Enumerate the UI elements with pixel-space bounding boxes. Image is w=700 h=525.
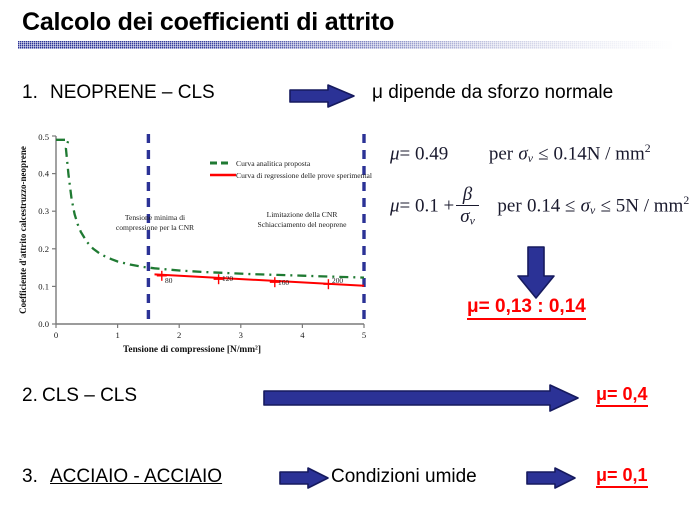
x-tick-0: 0 bbox=[54, 330, 58, 340]
y-axis-tick-labels: 0.0 0.1 0.2 0.3 0.4 0.5 bbox=[38, 132, 49, 329]
formula-1-sub: v bbox=[528, 152, 533, 165]
annotation-tensione-minima: Tensione minima di compressione per la C… bbox=[116, 213, 195, 232]
formula-2-cond-pre: 0.14 ≤ bbox=[527, 196, 575, 217]
y-tick-1: 0.1 bbox=[38, 281, 49, 291]
y-axis-label: Coefficiente d'attrito calcestruzzo-neop… bbox=[18, 146, 28, 314]
formula-result-badge: μ= 0,13 : 0,14 bbox=[467, 297, 586, 320]
right-arrow-icon bbox=[288, 83, 356, 109]
x-axis-label: Tensione di compressione [N/mm²] bbox=[123, 345, 261, 355]
long-right-arrow-icon bbox=[262, 383, 580, 413]
series-curva-analitica bbox=[56, 140, 364, 278]
row-2-label: CLS – CLS bbox=[42, 385, 137, 407]
x-tick-4: 4 bbox=[300, 330, 305, 340]
x-axis-tick-labels: 0 1 2 3 4 5 bbox=[54, 330, 366, 340]
formula-2-numerator: β bbox=[456, 185, 479, 206]
row-3-result: μ= 0,1 bbox=[596, 466, 648, 488]
chart-svg: 0.0 0.1 0.2 0.3 0.4 0.5 0 1 2 3 bbox=[12, 128, 372, 356]
svg-text:Schiacciamento del neoprene: Schiacciamento del neoprene bbox=[258, 220, 348, 229]
row-2-number: 2. bbox=[22, 385, 38, 407]
down-arrow-icon bbox=[515, 245, 557, 301]
formula-2-fraction: βσv bbox=[456, 185, 479, 228]
formula-1-sigma: σ bbox=[518, 143, 527, 164]
row-1-consequence: μ dipende da sforzo normale bbox=[372, 82, 613, 104]
x-tick-5: 5 bbox=[362, 330, 366, 340]
row-1-label: NEOPRENE – CLS bbox=[50, 82, 215, 104]
title-underline-rule bbox=[18, 41, 674, 49]
formula-1-mu: μ bbox=[390, 143, 400, 164]
marker-label-80: 80 bbox=[165, 276, 173, 285]
marker-label-120: 120 bbox=[222, 274, 233, 283]
formula-1-per: per bbox=[489, 143, 513, 164]
svg-text:Tensione minima di: Tensione minima di bbox=[125, 213, 185, 222]
y-tick-0: 0.0 bbox=[38, 319, 49, 329]
formula-2-sub: v bbox=[590, 204, 595, 217]
formula-2-sigma: σ bbox=[581, 196, 590, 217]
row-3-number: 3. bbox=[22, 466, 38, 488]
formula-2-cond-post: ≤ 5N / mm bbox=[601, 196, 684, 217]
row-3-middle: Condizioni umide bbox=[331, 466, 477, 488]
row-2-result: μ= 0,4 bbox=[596, 385, 648, 407]
row-3-label: ACCIAIO - ACCIAIO bbox=[50, 466, 222, 488]
svg-text:Limitazione della CNR: Limitazione della CNR bbox=[267, 210, 339, 219]
slide-root: Calcolo dei coefficienti di attrito 1. N… bbox=[0, 0, 700, 525]
formula-2-eq: = 0.1 + bbox=[400, 196, 455, 217]
formula-1-exp: 2 bbox=[645, 142, 651, 155]
formula-1-eq: = 0.49 bbox=[400, 143, 449, 164]
formula-2-denominator: σv bbox=[456, 206, 479, 228]
row-1-number: 1. bbox=[22, 82, 38, 104]
marker-label-200: 200 bbox=[332, 276, 343, 285]
y-tick-3: 0.3 bbox=[38, 206, 49, 216]
title-rule-texture bbox=[18, 41, 674, 49]
y-tick-5: 0.5 bbox=[38, 132, 49, 142]
legend-label-green: Curva analitica proposta bbox=[236, 159, 311, 168]
right-arrow-icon-3 bbox=[525, 466, 577, 490]
formula-line-2: μ= 0.1 +βσv per 0.14 ≤ σv ≤ 5N / mm2 bbox=[390, 185, 689, 228]
x-tick-2: 2 bbox=[177, 330, 181, 340]
formula-1-cond: ≤ 0.14N / mm bbox=[538, 143, 645, 164]
chart-legend: Curva analitica proposta Curva di regres… bbox=[210, 159, 372, 180]
formula-2-exp: 2 bbox=[683, 194, 689, 207]
y-tick-4: 0.4 bbox=[38, 169, 49, 179]
annotation-limitazione-cnr: Limitazione della CNR Schiacciamento del… bbox=[258, 210, 348, 229]
svg-text:compressione per la CNR: compressione per la CNR bbox=[116, 223, 195, 232]
x-tick-1: 1 bbox=[115, 330, 119, 340]
y-tick-2: 0.2 bbox=[38, 244, 49, 254]
friction-coefficient-chart: 0.0 0.1 0.2 0.3 0.4 0.5 0 1 2 3 bbox=[12, 128, 372, 356]
marker-label-160: 160 bbox=[278, 278, 289, 287]
right-arrow-icon-2 bbox=[278, 466, 330, 490]
formula-2-per: per bbox=[497, 196, 521, 217]
x-tick-3: 3 bbox=[239, 330, 243, 340]
page-title: Calcolo dei coefficienti di attrito bbox=[22, 8, 394, 37]
legend-label-red: Curva di regressione delle prove sperime… bbox=[236, 171, 372, 180]
formula-2-mu: μ bbox=[390, 196, 400, 217]
formula-line-1: μ= 0.49 per σv ≤ 0.14N / mm2 bbox=[390, 142, 651, 166]
